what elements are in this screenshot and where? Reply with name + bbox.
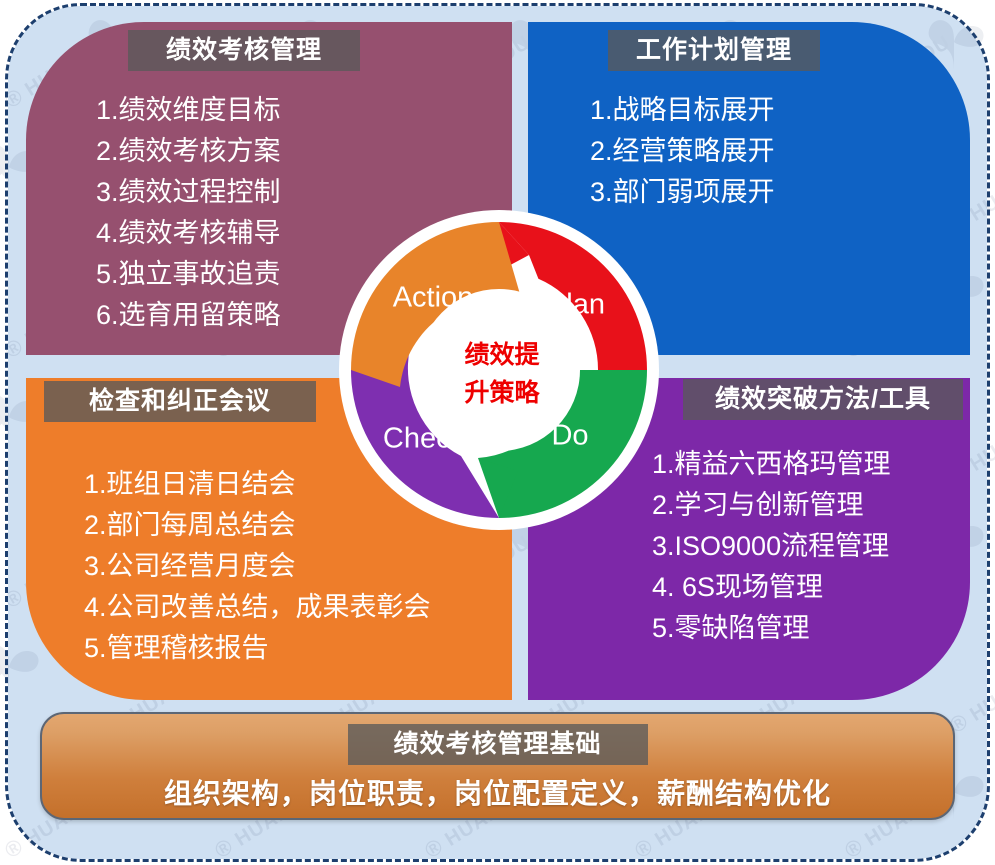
list-item: 2.绩效考核方案	[96, 131, 281, 172]
list-item: 2.经营策略展开	[590, 131, 775, 172]
pdca-cycle-diagram[interactable]: Plan Do Check Action 绩效提 升策略	[338, 209, 660, 531]
list-item: 6.选育用留策略	[96, 295, 281, 336]
foundation-bar[interactable]: 绩效考核管理基础 组织架构，岗位职责，岗位配置定义，薪酬结构优化	[40, 712, 955, 820]
cycle-core-line-1: 绩效提	[464, 340, 540, 369]
list-item: 4.公司改善总结，成果表彰会	[84, 587, 431, 628]
cycle-core	[418, 289, 580, 451]
poster-canvas: ®HUAMOU®HUAMOU®HUAMOU®HUAMOU®HUAMOU®HUAM…	[0, 0, 995, 865]
list-item: 1.战略目标展开	[590, 90, 775, 131]
quadrant-title-bottom-left: 检查和纠正会议	[44, 381, 316, 422]
list-item: 2.学习与创新管理	[652, 485, 891, 526]
list-item: 3.绩效过程控制	[96, 172, 281, 213]
quadrant-title-top-right: 工作计划管理	[608, 30, 820, 71]
quadrant-list-top-left: 1.绩效维度目标 2.绩效考核方案 3.绩效过程控制 4.绩效考核辅导 5.独立…	[96, 90, 281, 336]
list-item: 1.精益六西格玛管理	[652, 444, 891, 485]
list-item: 1.绩效维度目标	[96, 90, 281, 131]
list-item: 4. 6S现场管理	[652, 567, 891, 608]
list-item: 5.管理稽核报告	[84, 628, 431, 669]
quadrant-title-top-left: 绩效考核管理	[128, 30, 360, 71]
list-item: 3.部门弱项展开	[590, 172, 775, 213]
cycle-core-line-2: 升策略	[464, 378, 540, 407]
list-item: 3.公司经营月度会	[84, 546, 431, 587]
foundation-subtitle: 组织架构，岗位职责，岗位配置定义，薪酬结构优化	[42, 772, 953, 812]
list-item: 5.独立事故追责	[96, 254, 281, 295]
list-item: 3.ISO9000流程管理	[652, 526, 891, 567]
list-item: 5.零缺陷管理	[652, 608, 891, 649]
foundation-title: 绩效考核管理基础	[348, 724, 648, 765]
watermark-leaf-icon	[0, 639, 43, 697]
quadrant-list-top-right: 1.战略目标展开 2.经营策略展开 3.部门弱项展开	[590, 90, 775, 213]
quadrant-list-bottom-right: 1.精益六西格玛管理 2.学习与创新管理 3.ISO9000流程管理 4. 6S…	[652, 444, 891, 649]
list-item: 4.绩效考核辅导	[96, 213, 281, 254]
quadrant-title-bottom-right: 绩效突破方法/工具	[683, 379, 963, 420]
